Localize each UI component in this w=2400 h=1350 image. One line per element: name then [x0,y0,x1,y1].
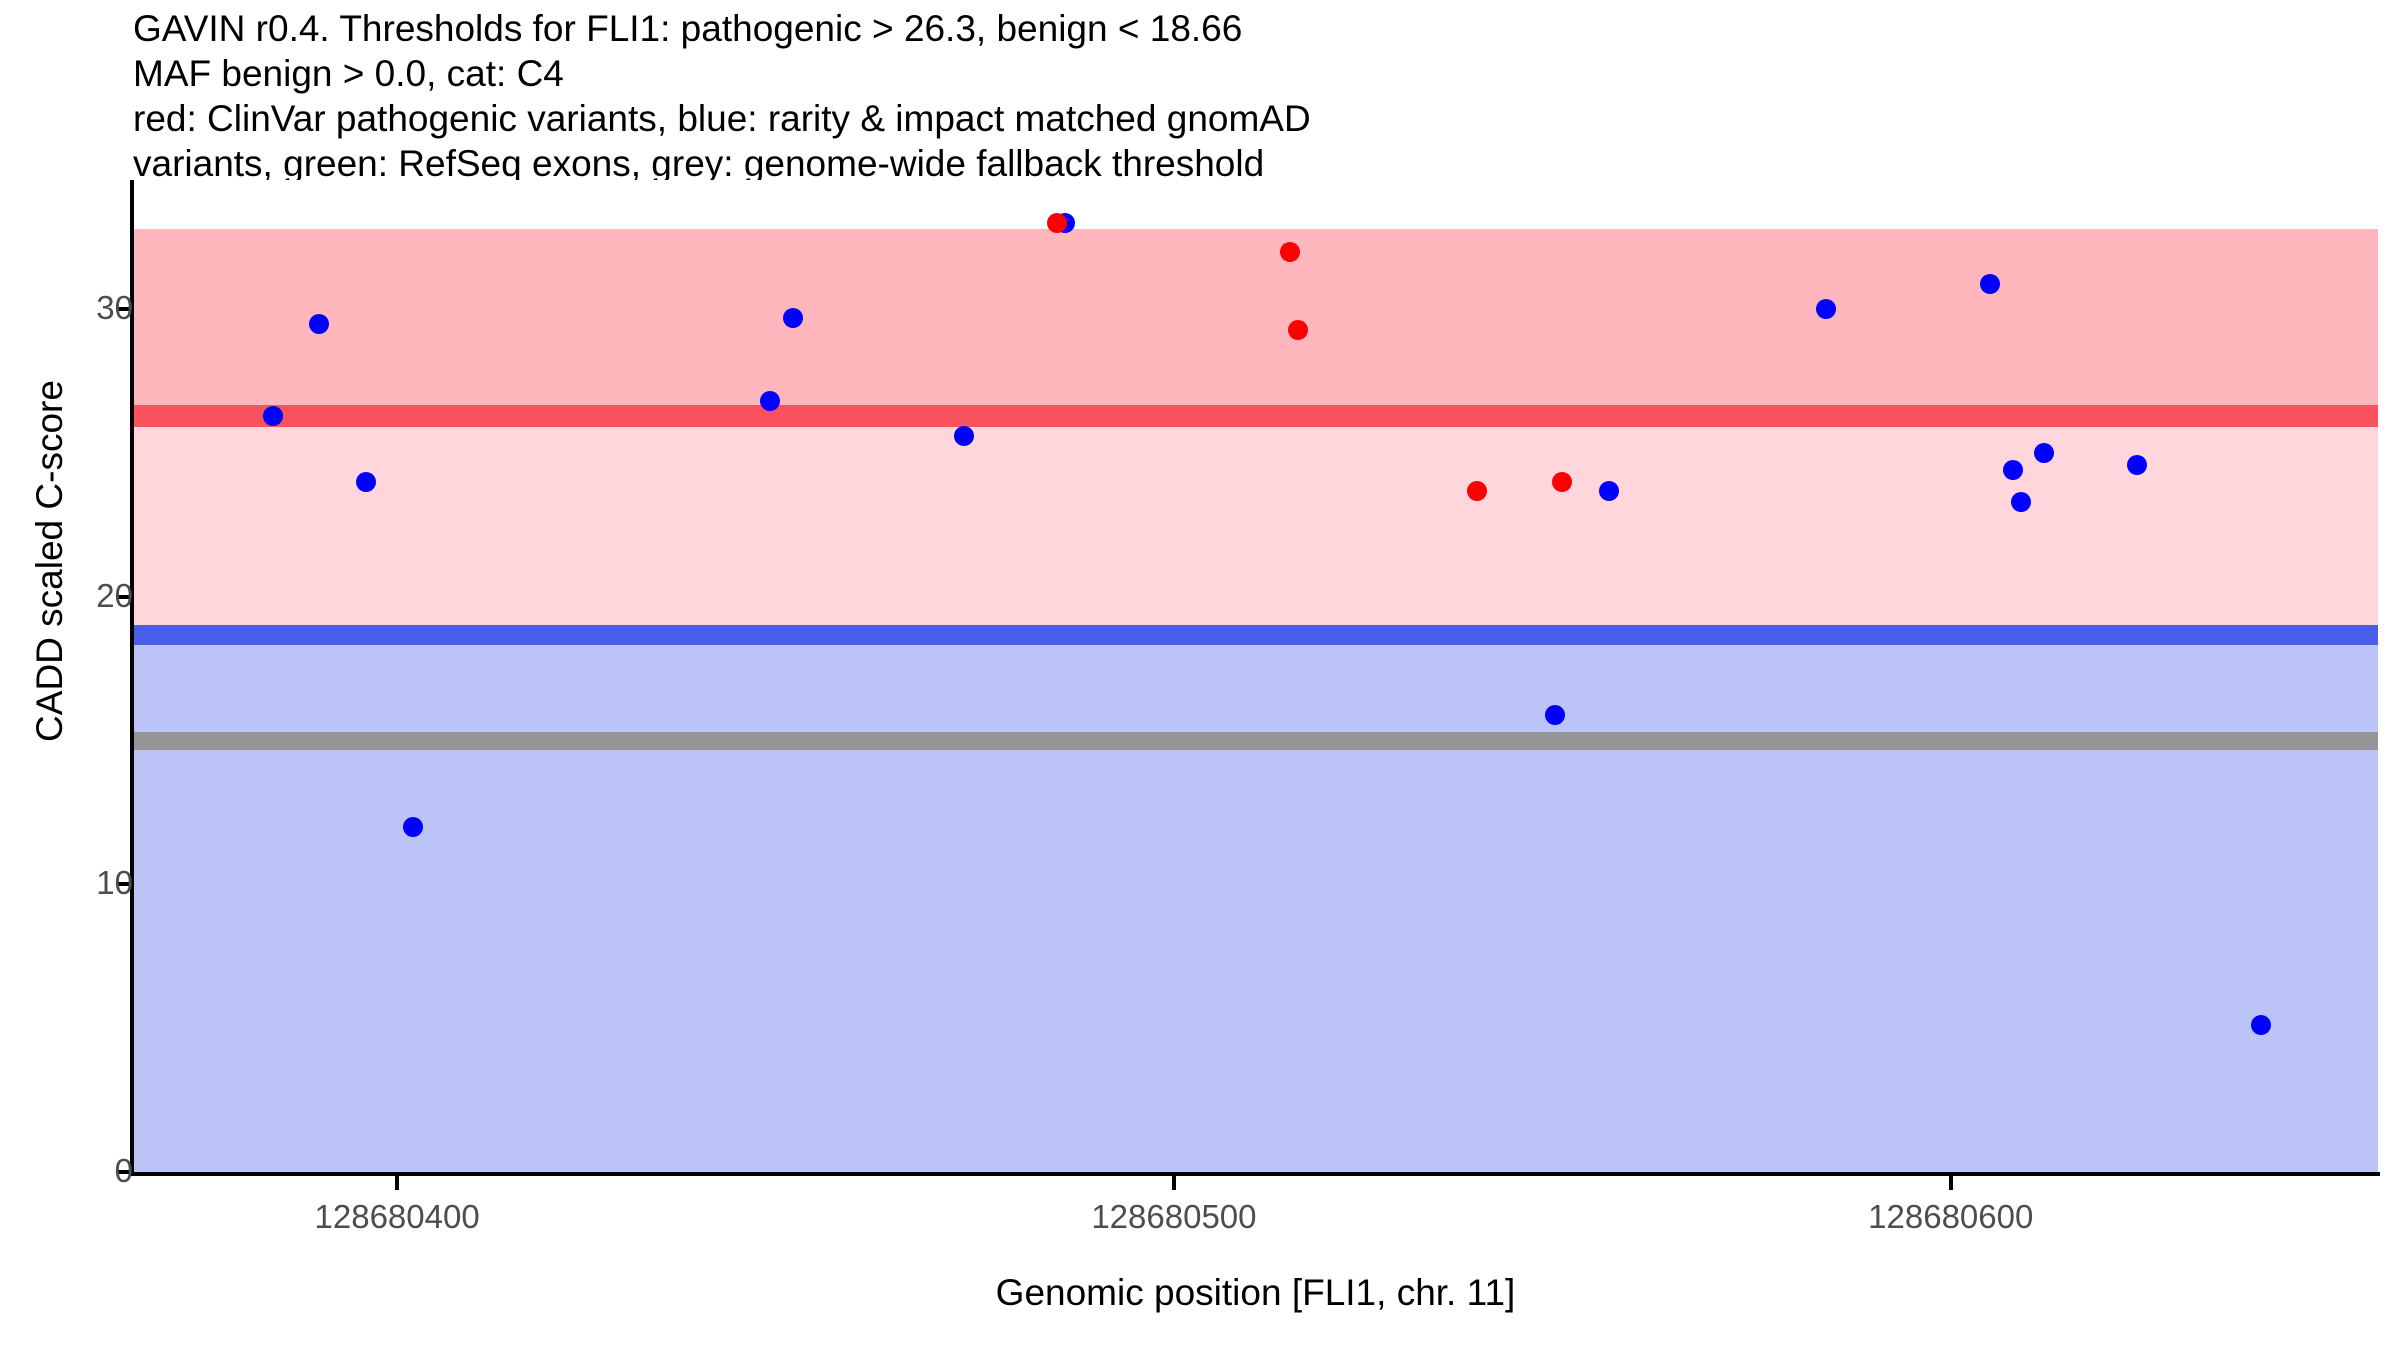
gnomad-point[interactable] [1599,481,1619,501]
gnomad-point[interactable] [954,426,974,446]
y-tick-label: 0 [0,1152,157,1190]
benign-band [133,635,2378,1172]
gnomad-point[interactable] [403,817,423,837]
benign-threshold-line [133,625,2378,645]
x-tick-label: 128680400 [315,1198,480,1236]
clinvar-point[interactable] [1467,481,1487,501]
title-line-1: GAVIN r0.4. Thresholds for FLI1: pathoge… [133,6,2333,51]
pathogenic-band [133,229,2378,416]
plot-panel [133,180,2378,1172]
title-line-2: MAF benign > 0.0, cat: C4 [133,51,2333,96]
clinvar-point[interactable] [1288,320,1308,340]
x-axis-title: Genomic position [FLI1, chr. 11] [133,1272,2378,1314]
x-tick-mark [1949,1176,1953,1190]
chart-title-block: GAVIN r0.4. Thresholds for FLI1: pathoge… [133,6,2333,186]
gnomad-point[interactable] [1545,705,1565,725]
gnomad-point[interactable] [263,406,283,426]
gnomad-point[interactable] [2011,492,2031,512]
y-tick-label: 20 [0,577,157,615]
x-axis-line [130,1172,2380,1176]
y-tick-label: 30 [0,289,157,327]
title-line-3: red: ClinVar pathogenic variants, blue: … [133,96,2333,141]
x-tick-label: 128680500 [1091,1198,1256,1236]
pathogenic-threshold-line [133,405,2378,427]
y-axis-line [130,180,134,1176]
fallback-threshold-line [133,732,2378,750]
gnomad-point[interactable] [1980,274,2000,294]
x-tick-mark [395,1176,399,1190]
x-tick-mark [1172,1176,1176,1190]
x-tick-label: 128680600 [1868,1198,2033,1236]
gnomad-point[interactable] [2127,455,2147,475]
y-tick-label: 10 [0,864,157,902]
gnomad-point[interactable] [356,472,376,492]
gnomad-point[interactable] [2034,443,2054,463]
